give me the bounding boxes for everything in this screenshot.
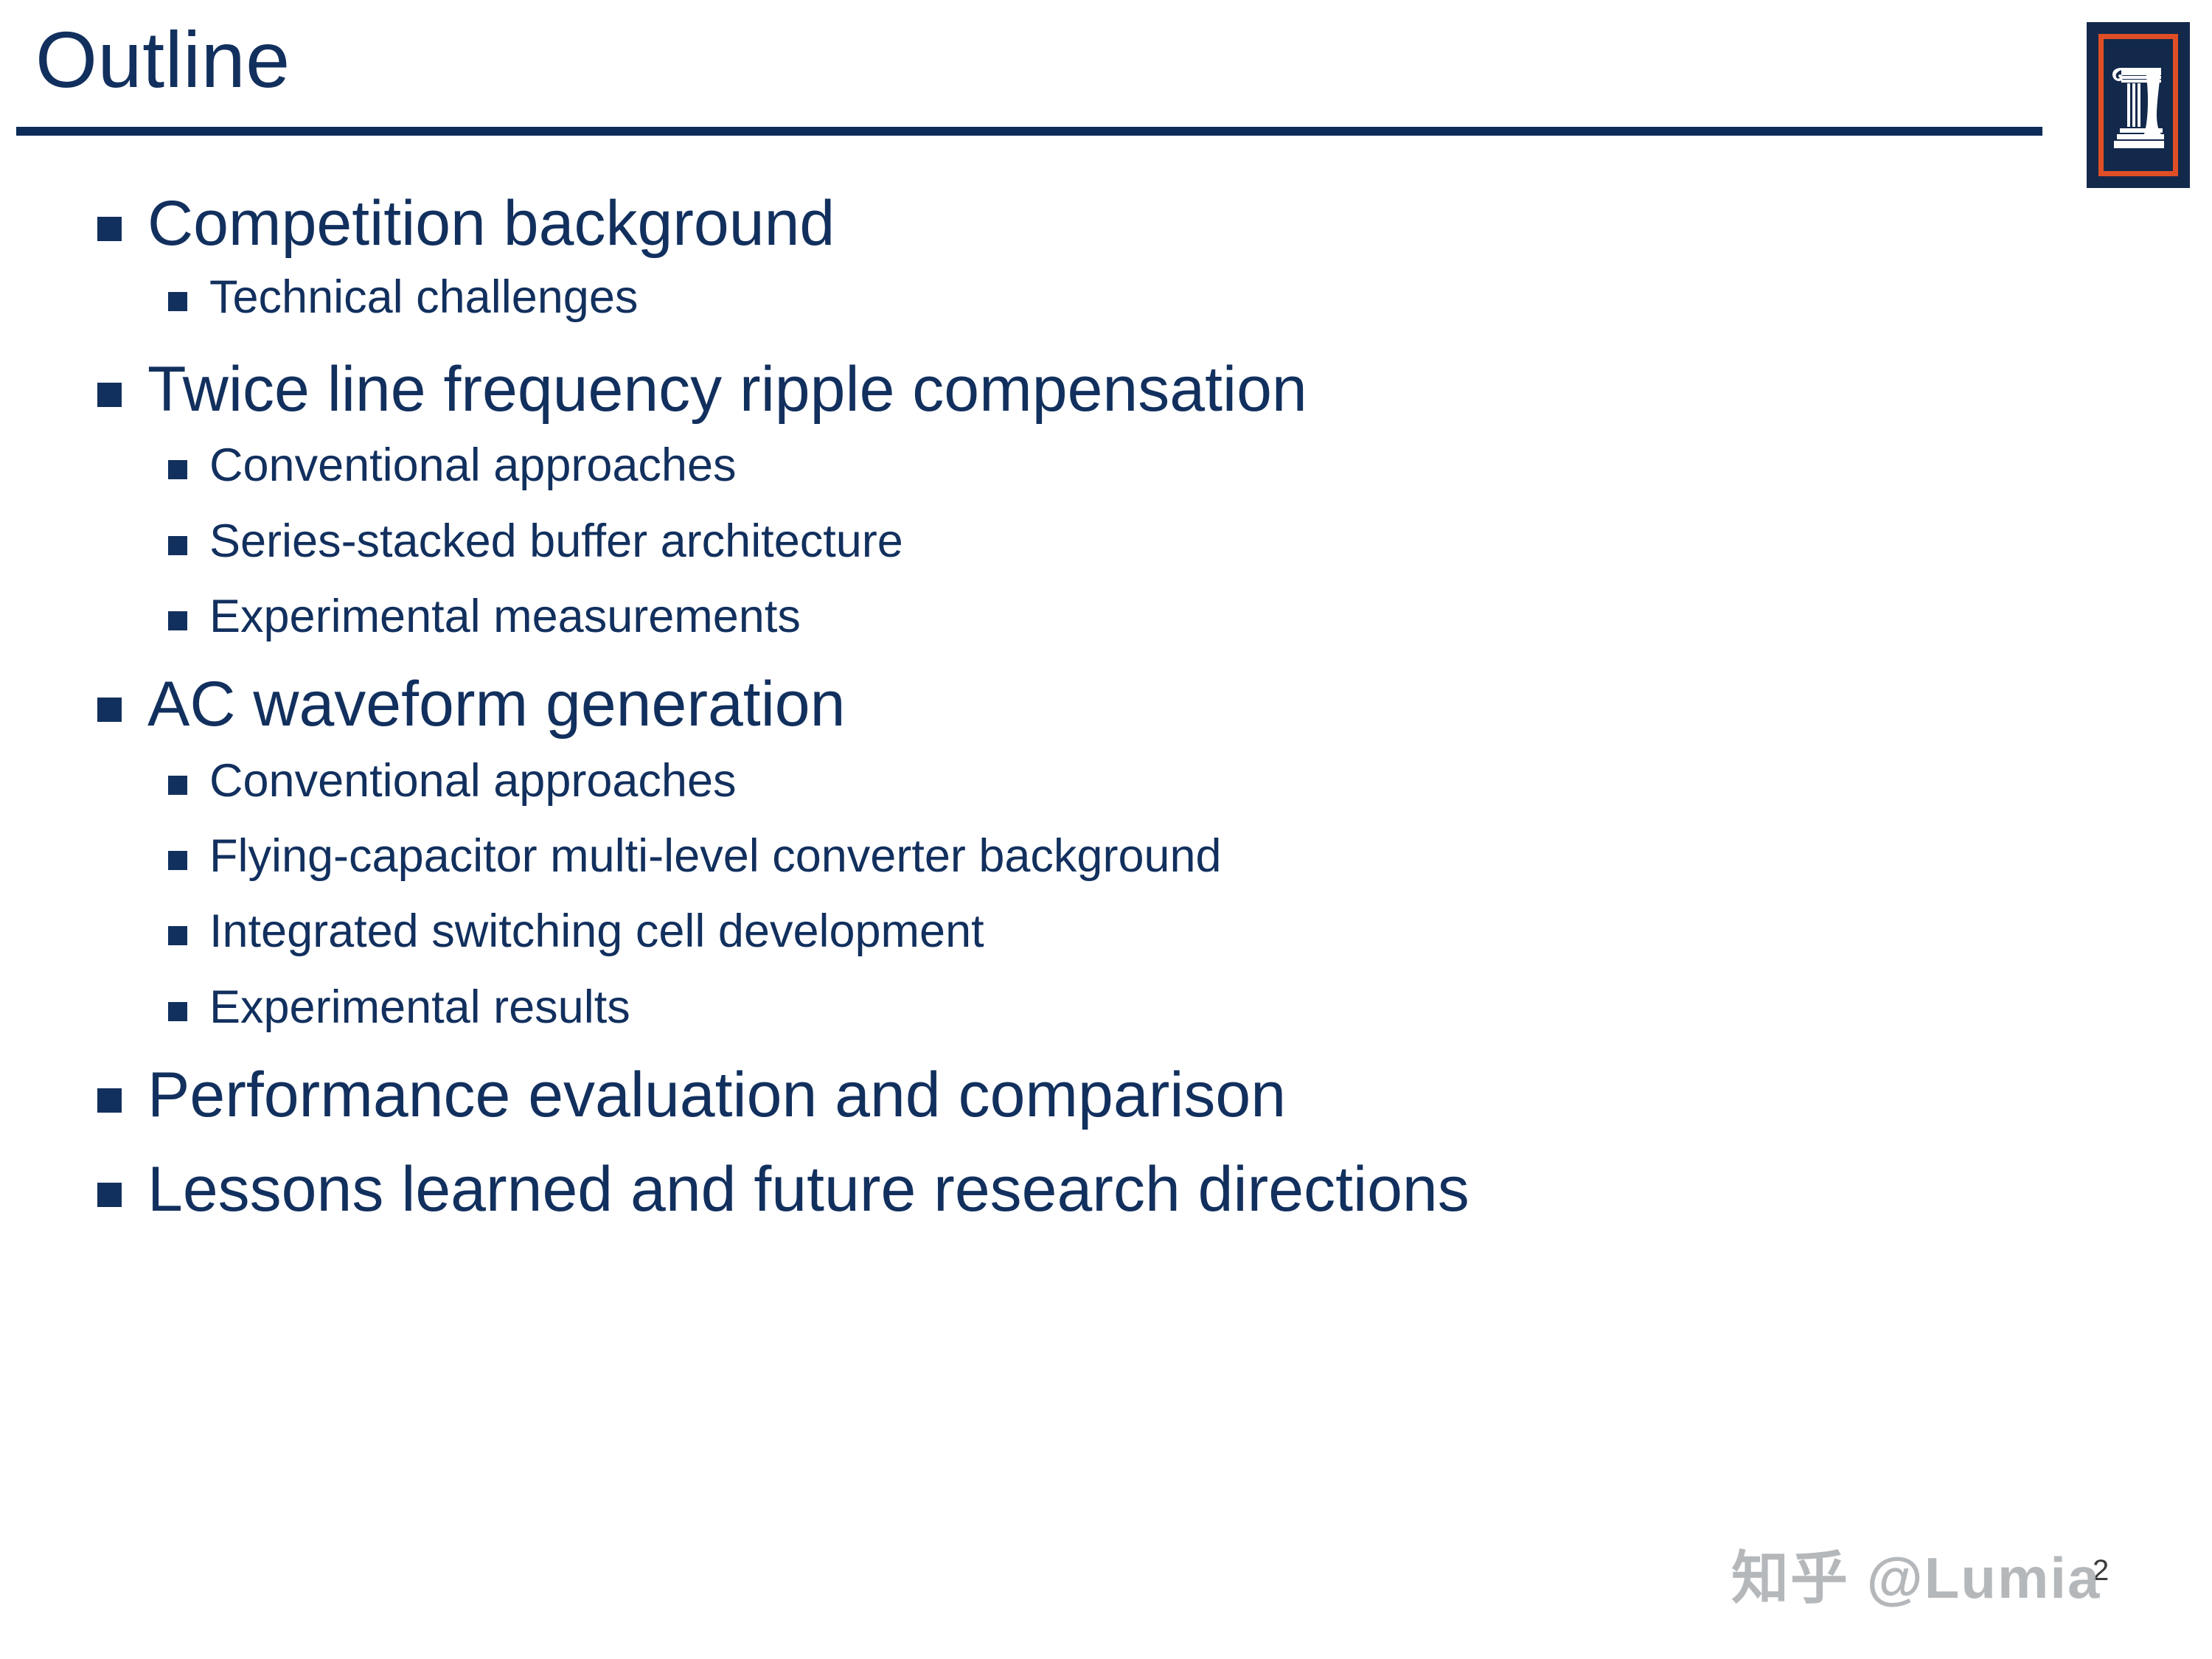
- title-divider-rule: [16, 127, 2042, 136]
- bullet-square-icon: [97, 217, 122, 241]
- outline-item-conventional-approaches-ac[interactable]: Conventional approaches: [168, 758, 737, 804]
- outline-item-label: Technical challenges: [209, 274, 638, 321]
- outline-item-conventional-approaches-ripple[interactable]: Conventional approaches: [168, 442, 737, 489]
- outline-item-performance-evaluation-and-comparison[interactable]: Performance evaluation and comparison: [97, 1063, 1286, 1127]
- outline-item-label: Conventional approaches: [209, 442, 737, 489]
- outline-item-experimental-measurements[interactable]: Experimental measurements: [168, 594, 801, 640]
- outline-item-experimental-results[interactable]: Experimental results: [168, 984, 630, 1031]
- outline-item-label: Experimental measurements: [209, 594, 801, 640]
- outline-item-lessons-learned-and-future-research-directions[interactable]: Lessons learned and future research dire…: [97, 1158, 1470, 1221]
- bullet-square-icon: [168, 776, 187, 795]
- slide-title-area: Outline: [0, 0, 2057, 147]
- outline-item-label: Experimental results: [209, 984, 630, 1031]
- bullet-square-icon: [168, 851, 187, 870]
- outline-item-competition-background[interactable]: Competition background: [97, 192, 835, 255]
- outline-item-label: Integrated switching cell development: [209, 908, 984, 955]
- page-title: Outline: [35, 16, 291, 104]
- university-logo: [2087, 22, 2190, 188]
- outline-item-ac-waveform-generation[interactable]: AC waveform generation: [97, 672, 845, 736]
- outline-item-flying-capacitor-multi-level-converter-background[interactable]: Flying-capacitor multi-level converter b…: [168, 833, 1222, 880]
- outline-item-label: AC waveform generation: [147, 672, 845, 736]
- outline-item-technical-challenges[interactable]: Technical challenges: [168, 274, 638, 321]
- outline-item-twice-line-frequency-ripple-compensation[interactable]: Twice line frequency ripple compensation: [97, 358, 1307, 421]
- outline-item-label: Performance evaluation and comparison: [147, 1063, 1286, 1127]
- outline-item-integrated-switching-cell-development[interactable]: Integrated switching cell development: [168, 908, 984, 955]
- logo-border-frame: [2098, 34, 2178, 176]
- zhihu-watermark: 知乎 @Lumia: [1731, 1532, 2101, 1615]
- presentation-slide: Outline: [0, 0, 2212, 1659]
- bullet-square-icon: [97, 698, 122, 722]
- bullet-square-icon: [97, 1183, 122, 1207]
- bullet-square-icon: [168, 536, 187, 555]
- outline-item-label: Flying-capacitor multi-level converter b…: [209, 833, 1222, 880]
- bullet-square-icon: [168, 611, 187, 630]
- bullet-square-icon: [168, 460, 187, 479]
- bullet-square-icon: [168, 926, 187, 945]
- outline-item-label: Competition background: [147, 192, 835, 255]
- bullet-square-icon: [168, 292, 187, 311]
- outline-item-series-stacked-buffer-architecture[interactable]: Series-stacked buffer architecture: [168, 518, 903, 565]
- block-i-column-icon: [2111, 58, 2166, 153]
- bullet-square-icon: [97, 1088, 122, 1113]
- outline-item-label: Lessons learned and future research dire…: [147, 1158, 1470, 1221]
- bullet-square-icon: [168, 1002, 187, 1021]
- bullet-square-icon: [97, 383, 122, 407]
- outline-item-label: Conventional approaches: [209, 758, 737, 804]
- outline-item-label: Twice line frequency ripple compensation: [147, 358, 1307, 421]
- outline-item-label: Series-stacked buffer architecture: [209, 518, 903, 565]
